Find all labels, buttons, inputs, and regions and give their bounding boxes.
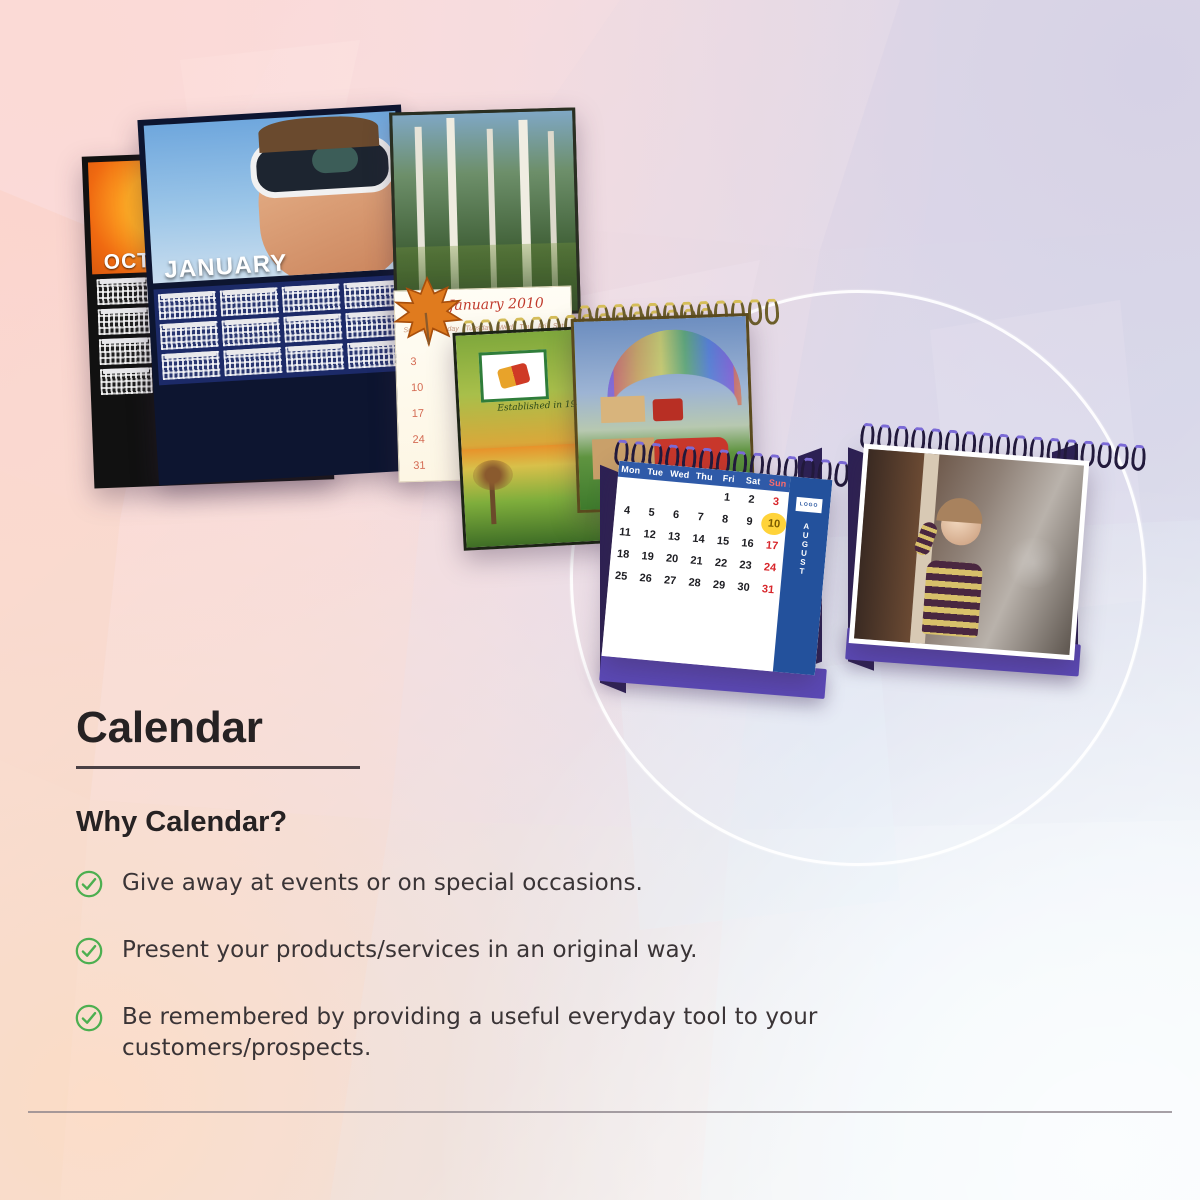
calendar-day-14[interactable]: 14	[685, 527, 711, 551]
calendar-day-18[interactable]: 18	[610, 542, 636, 566]
calendar-day-8[interactable]: 8	[712, 507, 738, 531]
calendar-day-30[interactable]: 30	[730, 575, 756, 599]
birch-date-column: 310172431	[410, 349, 426, 479]
calendar-day-11[interactable]: 11	[612, 520, 638, 544]
calendar-day-7[interactable]: 7	[687, 505, 713, 529]
august-month-letter: T	[799, 567, 807, 577]
section-subtitle: Why Calendar?	[76, 806, 287, 839]
calendar-day-1[interactable]: 1	[714, 486, 740, 510]
calendar-day-6[interactable]: 6	[663, 503, 689, 527]
desk-calendar-august[interactable]: Mon Tue Wed Thu Fri Sat Sun 123456789101…	[602, 461, 833, 676]
calendar-day-empty	[689, 483, 715, 507]
benefit-text: Be remembered by providing a useful ever…	[122, 1002, 912, 1063]
child-photo	[854, 449, 1084, 655]
poster-canvas: OCTOBER JANUARY	[0, 0, 1200, 1200]
list-item: Present your products/services in an ori…	[74, 935, 1014, 966]
calendar-day-22[interactable]: 22	[708, 551, 734, 575]
wall-calendar-january[interactable]: JANUARY	[137, 104, 422, 485]
check-circle-icon	[74, 936, 104, 966]
calendar-day-29[interactable]: 29	[706, 573, 732, 597]
calendar-day-21[interactable]: 21	[683, 549, 709, 573]
calendar-day-empty	[640, 479, 666, 503]
calendar-day-17[interactable]: 17	[759, 534, 785, 558]
august-month-grid: Mon Tue Wed Thu Fri Sat Sun 123456789101…	[602, 461, 791, 672]
calendar-day-16[interactable]: 16	[734, 532, 760, 556]
check-circle-icon	[74, 869, 104, 899]
calendar-day-28[interactable]: 28	[681, 571, 707, 595]
calendar-day-26[interactable]: 26	[632, 567, 658, 591]
list-item: Be remembered by providing a useful ever…	[74, 1002, 1014, 1063]
calendar-day-15[interactable]: 15	[710, 529, 736, 553]
calendar-day-5[interactable]: 5	[638, 501, 664, 525]
calendar-day-19[interactable]: 19	[634, 545, 660, 569]
calendar-day-25[interactable]: 25	[608, 564, 634, 588]
benefit-text: Present your products/services in an ori…	[122, 935, 698, 966]
check-circle-icon	[74, 1003, 104, 1033]
green-calendar-emblem	[478, 349, 549, 402]
calendar-day-31[interactable]: 31	[755, 578, 781, 602]
calendar-day-10[interactable]: 10	[761, 512, 787, 536]
calendar-day-4[interactable]: 4	[614, 499, 640, 523]
page-title: Calendar	[76, 703, 263, 753]
calendar-day-20[interactable]: 20	[659, 547, 685, 571]
list-item: Give away at events or on special occasi…	[74, 868, 1014, 899]
calendar-day-2[interactable]: 2	[738, 488, 764, 512]
calendar-day-13[interactable]: 13	[661, 525, 687, 549]
brand-logo: LOGO	[796, 497, 823, 513]
january-date-grid	[153, 275, 410, 386]
title-underline	[76, 766, 360, 769]
january-month-label: JANUARY	[164, 250, 289, 285]
calendar-day-3[interactable]: 3	[763, 490, 789, 514]
august-month-label: AUGUST	[799, 522, 811, 576]
footer-divider	[28, 1111, 1172, 1113]
august-week-rows: 1234567891011121314151617181920212223242…	[608, 477, 789, 602]
calendar-day-9[interactable]: 9	[736, 510, 762, 534]
desk-calendar-child[interactable]	[849, 444, 1090, 661]
calendar-day-23[interactable]: 23	[732, 554, 758, 578]
calendar-day-27[interactable]: 27	[657, 569, 683, 593]
calendar-day-12[interactable]: 12	[636, 523, 662, 547]
calendar-day-24[interactable]: 24	[757, 556, 783, 580]
benefit-text: Give away at events or on special occasi…	[122, 868, 643, 899]
calendar-day-empty	[665, 481, 691, 505]
calendar-day-empty	[616, 477, 642, 501]
benefits-list: Give away at events or on special occasi…	[74, 868, 1014, 1099]
